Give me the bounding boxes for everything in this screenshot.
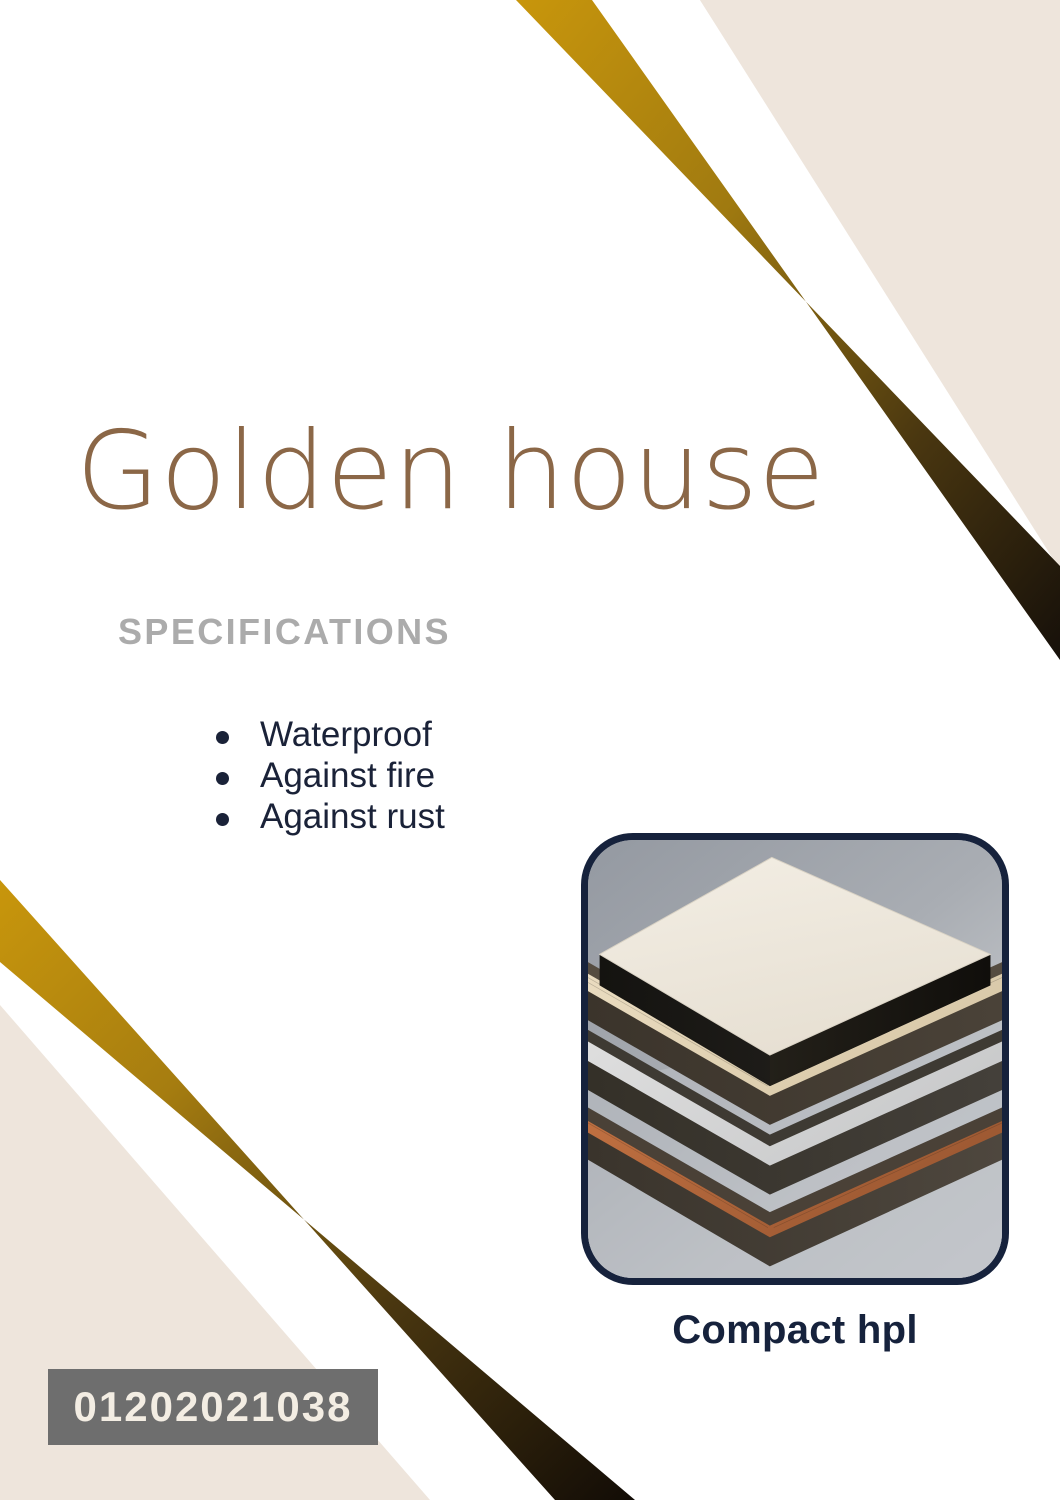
product-caption: Compact hpl [581,1308,1009,1353]
top-right-gold-stripe [516,0,1060,660]
specifications-list: Waterproof Against fire Against rust [214,714,445,837]
list-item: Against rust [214,796,445,837]
page-title: Golden house [76,418,825,526]
phone-badge[interactable]: 01202021038 [48,1369,378,1445]
bullet-dot-icon [216,731,229,744]
list-item-label: Against fire [260,756,435,795]
list-item-label: Against rust [260,797,445,836]
compact-hpl-panel-stack-image [588,840,1002,1278]
bullet-dot-icon [216,772,229,785]
list-item: Waterproof [214,714,445,755]
list-item: Against fire [214,755,445,796]
product-image-card [581,833,1009,1285]
poster-canvas: Golden house SPECIFICATIONS Waterproof A… [0,0,1060,1500]
phone-number: 01202021038 [74,1383,353,1431]
specifications-heading: SPECIFICATIONS [118,611,451,653]
bullet-dot-icon [216,813,229,826]
list-item-label: Waterproof [260,715,432,754]
